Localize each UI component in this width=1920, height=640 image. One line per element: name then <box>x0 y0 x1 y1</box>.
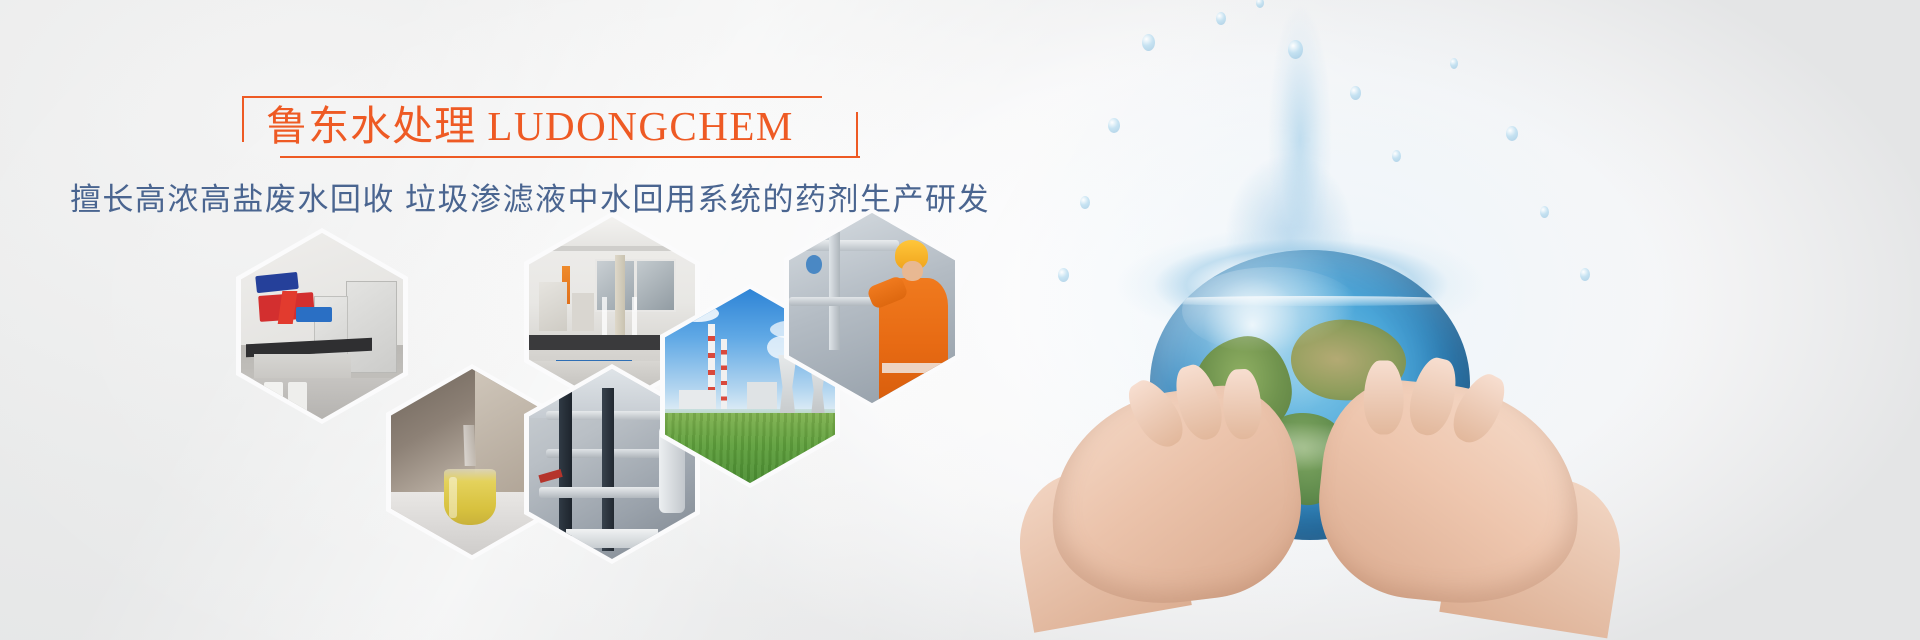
bracket-right-stub <box>856 112 858 158</box>
chimney-stack-short <box>721 339 727 409</box>
sphere-highlight <box>1182 267 1361 354</box>
plant-building <box>747 382 778 409</box>
glassware-right <box>632 297 637 339</box>
flask-neck <box>463 425 476 466</box>
water-droplet <box>1450 58 1458 69</box>
bracket-bottom-rule <box>280 156 860 158</box>
brand-title-frame: 鲁东水处理 LUDONGCHEM <box>240 96 820 158</box>
hero-image-water-splash-earth-in-hands <box>1020 0 1920 640</box>
brand-title-en: LUDONGCHEM <box>487 103 794 149</box>
window-right <box>635 259 676 312</box>
cabinet-secondary <box>572 293 594 331</box>
center-column <box>615 255 625 346</box>
brand-title: 鲁东水处理 LUDONGCHEM <box>266 102 794 150</box>
plant-building-secondary <box>679 390 716 409</box>
blue-instrument <box>296 307 332 322</box>
water-droplet <box>1216 12 1226 25</box>
glassware-left <box>602 297 607 339</box>
support-rack-right <box>602 388 614 551</box>
water-droplet <box>1142 34 1155 51</box>
water-droplet <box>1058 268 1069 282</box>
headline-block: 鲁东水处理 LUDONGCHEM 擅长高浓高盐废水回收 垃圾渗滤液中水回用系统的… <box>0 96 1060 220</box>
lab-cabinet <box>346 281 397 372</box>
water-droplet <box>1288 40 1303 59</box>
hero-banner: 鲁东水处理 LUDONGCHEM 擅长高浓高盐废水回收 垃圾渗滤液中水回用系统的… <box>0 0 1920 640</box>
blue-valve-wheel <box>806 255 823 274</box>
water-droplet <box>1080 196 1090 209</box>
water-droplet <box>1506 126 1518 141</box>
hexagon-photo-cluster <box>236 218 976 528</box>
lower-pipe <box>789 297 875 307</box>
glass-highlight <box>449 477 457 518</box>
water-droplet <box>1580 268 1590 281</box>
bracket-top-rule <box>242 96 822 98</box>
water-droplet <box>1108 118 1120 133</box>
right-finger-1 <box>1364 361 1404 435</box>
bracket-left-stub <box>242 96 244 142</box>
water-droplet <box>1540 206 1549 218</box>
water-droplet <box>1350 86 1361 100</box>
water-droplet <box>1392 150 1401 162</box>
vertical-column <box>829 232 841 350</box>
banner-subtitle: 擅长高浓高盐废水回收 垃圾渗滤液中水回用系统的药剂生产研发 <box>0 180 1060 220</box>
brand-title-cn: 鲁东水处理 <box>266 103 476 149</box>
support-rack-left <box>559 384 572 551</box>
cabinet <box>539 282 567 331</box>
